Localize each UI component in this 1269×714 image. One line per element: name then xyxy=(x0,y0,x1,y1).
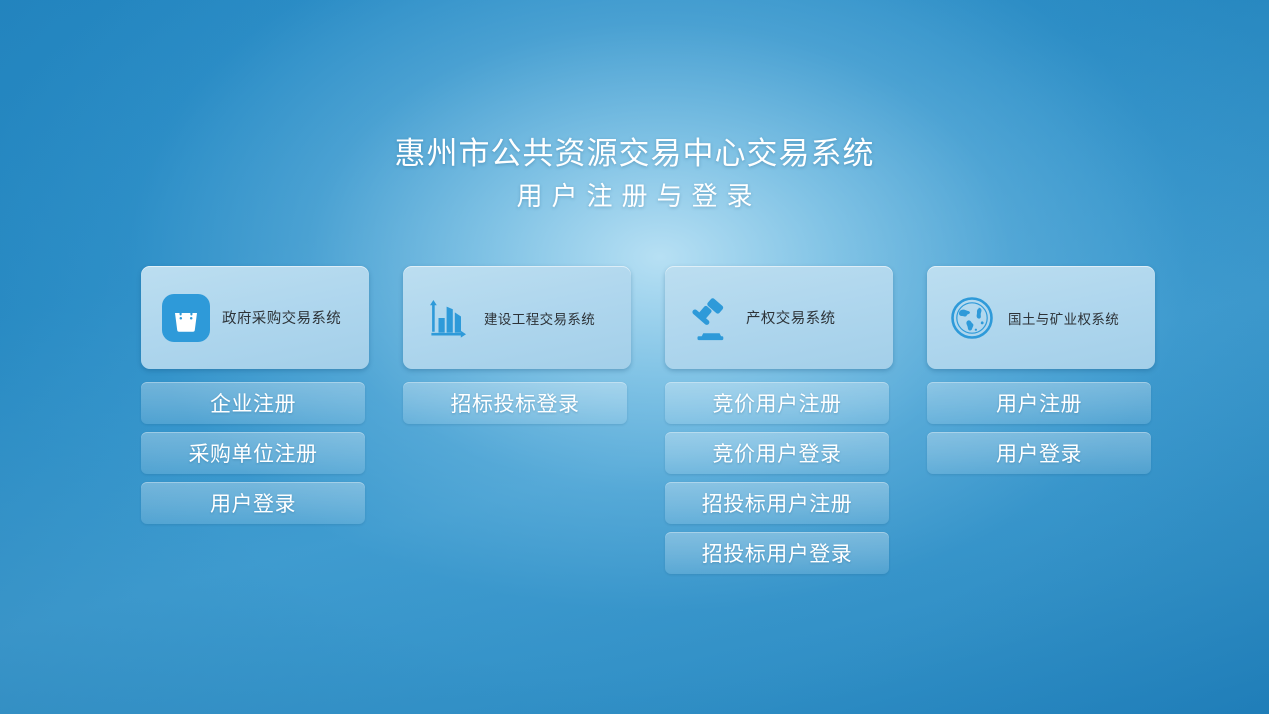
gavel-icon xyxy=(685,293,735,343)
login-portal-page: 惠州市公共资源交易中心交易系统 用户注册与登录 政府采购交易系统 企业 xyxy=(0,0,1269,714)
system-card-land-mining-rights[interactable]: 国土与矿业权系统 xyxy=(927,266,1155,369)
button-user-login-procurement[interactable]: 用户登录 xyxy=(141,482,365,524)
button-tender-user-login[interactable]: 招投标用户登录 xyxy=(665,532,889,574)
bar-chart-icon xyxy=(423,293,473,343)
button-label: 采购单位注册 xyxy=(189,438,318,468)
system-card-label: 建设工程交易系统 xyxy=(484,308,595,328)
button-user-register-land[interactable]: 用户注册 xyxy=(927,382,1151,424)
button-enterprise-register[interactable]: 企业注册 xyxy=(141,382,365,424)
button-label: 招投标用户登录 xyxy=(702,538,853,568)
system-card-label: 国土与矿业权系统 xyxy=(1008,308,1119,328)
button-label: 招标投标登录 xyxy=(451,388,580,418)
system-card-label: 产权交易系统 xyxy=(746,307,835,328)
button-label: 用户登录 xyxy=(210,488,296,518)
system-column-land-mining-rights: 国土与矿业权系统 用户注册 用户登录 xyxy=(927,266,1155,482)
button-auction-user-login[interactable]: 竞价用户登录 xyxy=(665,432,889,474)
button-label: 用户注册 xyxy=(996,388,1082,418)
system-column-construction-engineering: 建设工程交易系统 招标投标登录 xyxy=(403,266,631,432)
system-columns: 政府采购交易系统 企业注册 采购单位注册 用户登录 xyxy=(141,266,1155,582)
button-tender-user-register[interactable]: 招投标用户注册 xyxy=(665,482,889,524)
button-bidding-login[interactable]: 招标投标登录 xyxy=(403,382,627,424)
button-user-login-land[interactable]: 用户登录 xyxy=(927,432,1151,474)
button-label: 企业注册 xyxy=(210,388,296,418)
page-header: 惠州市公共资源交易中心交易系统 用户注册与登录 xyxy=(0,132,1269,218)
shopping-bag-icon xyxy=(161,293,211,343)
system-card-government-procurement[interactable]: 政府采购交易系统 xyxy=(141,266,369,369)
button-label: 用户登录 xyxy=(996,438,1082,468)
globe-icon xyxy=(947,293,997,343)
page-title: 惠州市公共资源交易中心交易系统 xyxy=(0,132,1269,176)
button-purchasing-unit-register[interactable]: 采购单位注册 xyxy=(141,432,365,474)
page-subtitle: 用户注册与登录 xyxy=(0,176,1269,218)
button-auction-user-register[interactable]: 竞价用户注册 xyxy=(665,382,889,424)
button-label: 竞价用户注册 xyxy=(713,388,842,418)
system-column-property-rights: 产权交易系统 竞价用户注册 竞价用户登录 招投标用户注册 招投标用户登录 xyxy=(665,266,893,582)
button-label: 竞价用户登录 xyxy=(713,438,842,468)
system-card-label: 政府采购交易系统 xyxy=(222,307,341,328)
system-column-government-procurement: 政府采购交易系统 企业注册 采购单位注册 用户登录 xyxy=(141,266,369,532)
button-label: 招投标用户注册 xyxy=(702,488,853,518)
system-card-construction-engineering[interactable]: 建设工程交易系统 xyxy=(403,266,631,369)
system-card-property-rights[interactable]: 产权交易系统 xyxy=(665,266,893,369)
